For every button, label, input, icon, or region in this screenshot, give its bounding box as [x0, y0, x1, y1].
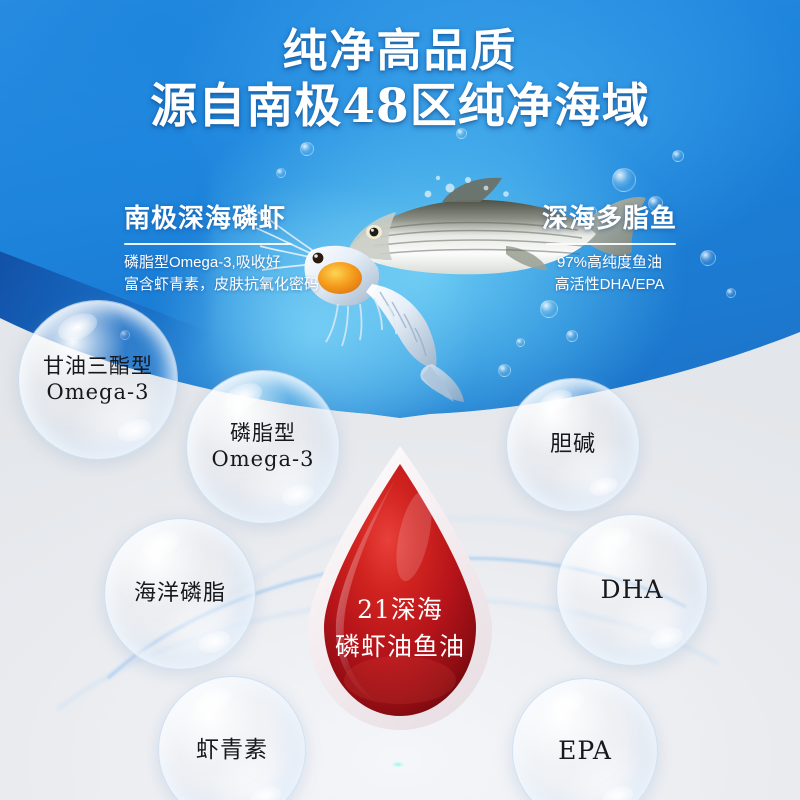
ingredient-bubble-choline[interactable]: 胆碱 [506, 378, 640, 512]
bubble-label-choline: 胆碱 [550, 432, 596, 459]
water-bubble-icon [566, 330, 578, 342]
feature-krill-title: 南极深海磷虾 [124, 198, 319, 235]
headline-line-1: 纯净高品质 [0, 24, 800, 78]
feature-fish-sub-2: 高活性DHA/EPA [542, 274, 677, 296]
swoosh-glint [392, 762, 404, 767]
feature-fish-divider [546, 243, 676, 245]
water-bubble-icon [726, 288, 736, 298]
page-title: 纯净高品质 源自南极48区纯净海域 [0, 24, 800, 136]
ingredient-bubble-triglyceride[interactable]: 甘油三酯型Omega-3 [18, 300, 178, 460]
water-bubble-icon [300, 142, 314, 156]
bubble-label-epa: EPA [558, 736, 612, 767]
droplet-line-1: 21深海 [357, 595, 443, 624]
droplet-line-2: 磷虾油鱼油 [335, 632, 465, 661]
feature-krill-divider [124, 243, 292, 245]
feature-fish-title: 深海多脂鱼 [542, 198, 677, 235]
ingredient-bubble-marine-phospholipid[interactable]: 海洋磷脂 [104, 518, 256, 670]
feature-caption-fish: 深海多脂鱼 97%高纯度鱼油 高活性DHA/EPA [542, 198, 677, 296]
ingredient-bubble-astaxanthin[interactable]: 虾青素 [158, 676, 306, 800]
water-bubble-icon [516, 338, 525, 347]
ingredient-bubble-dha[interactable]: DHA [556, 514, 708, 666]
feature-fish-sub-1: 97%高纯度鱼油 [542, 252, 677, 274]
bubble-label-astaxanthin: 虾青素 [196, 736, 268, 764]
bubble-label-triglyceride: 甘油三酯型Omega-3 [43, 354, 153, 405]
water-bubble-icon [700, 250, 716, 266]
feature-krill-sub-1: 磷脂型Omega-3,吸收好 [124, 252, 319, 274]
ingredient-bubble-epa[interactable]: EPA [512, 678, 658, 800]
water-bubble-icon [276, 168, 286, 178]
bubble-label-phospholipid: 磷脂型Omega-3 [212, 421, 315, 472]
ingredient-bubble-phospholipid[interactable]: 磷脂型Omega-3 [186, 370, 340, 524]
feature-caption-krill: 南极深海磷虾 磷脂型Omega-3,吸收好 富含虾青素，皮肤抗氧化密码 [124, 198, 319, 296]
product-poster: 纯净高品质 源自南极48区纯净海域 南极深海磷虾 磷脂型Omega-3,吸收好 … [0, 0, 800, 800]
feature-krill-sub-2: 富含虾青素，皮肤抗氧化密码 [124, 274, 319, 296]
bubble-label-marine-phospholipid: 海洋磷脂 [134, 581, 226, 608]
bubble-label-dha: DHA [601, 575, 664, 606]
headline-line-2: 源自南极48区纯净海域 [0, 78, 800, 136]
water-bubble-icon [672, 150, 684, 162]
